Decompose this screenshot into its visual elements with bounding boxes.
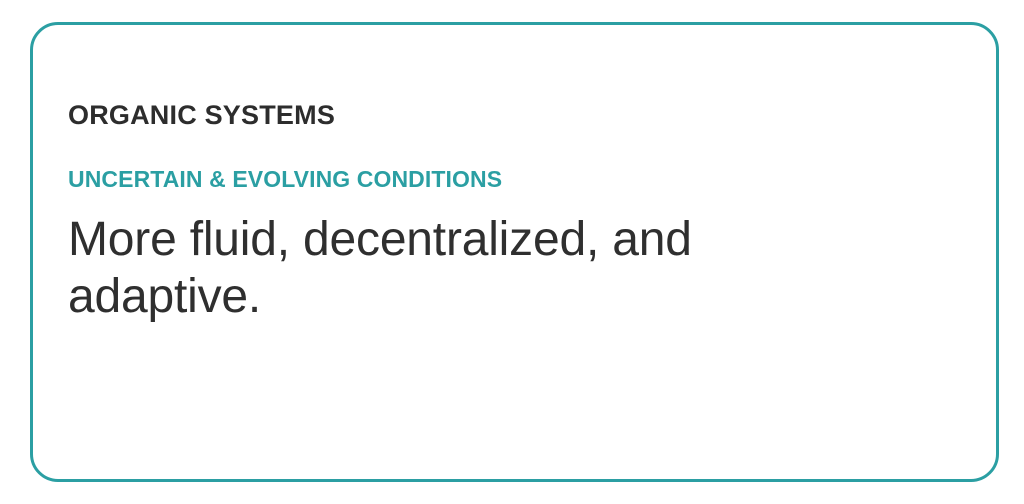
slide-canvas: ORGANIC SYSTEMS UNCERTAIN & EVOLVING CON… [0,0,1024,504]
card-subtitle: UNCERTAIN & EVOLVING CONDITIONS [68,165,502,193]
organic-systems-card: ORGANIC SYSTEMS UNCERTAIN & EVOLVING CON… [30,22,999,482]
card-title: ORGANIC SYSTEMS [68,98,335,132]
card-description: More fluid, decentralized, and adaptive. [68,211,868,325]
